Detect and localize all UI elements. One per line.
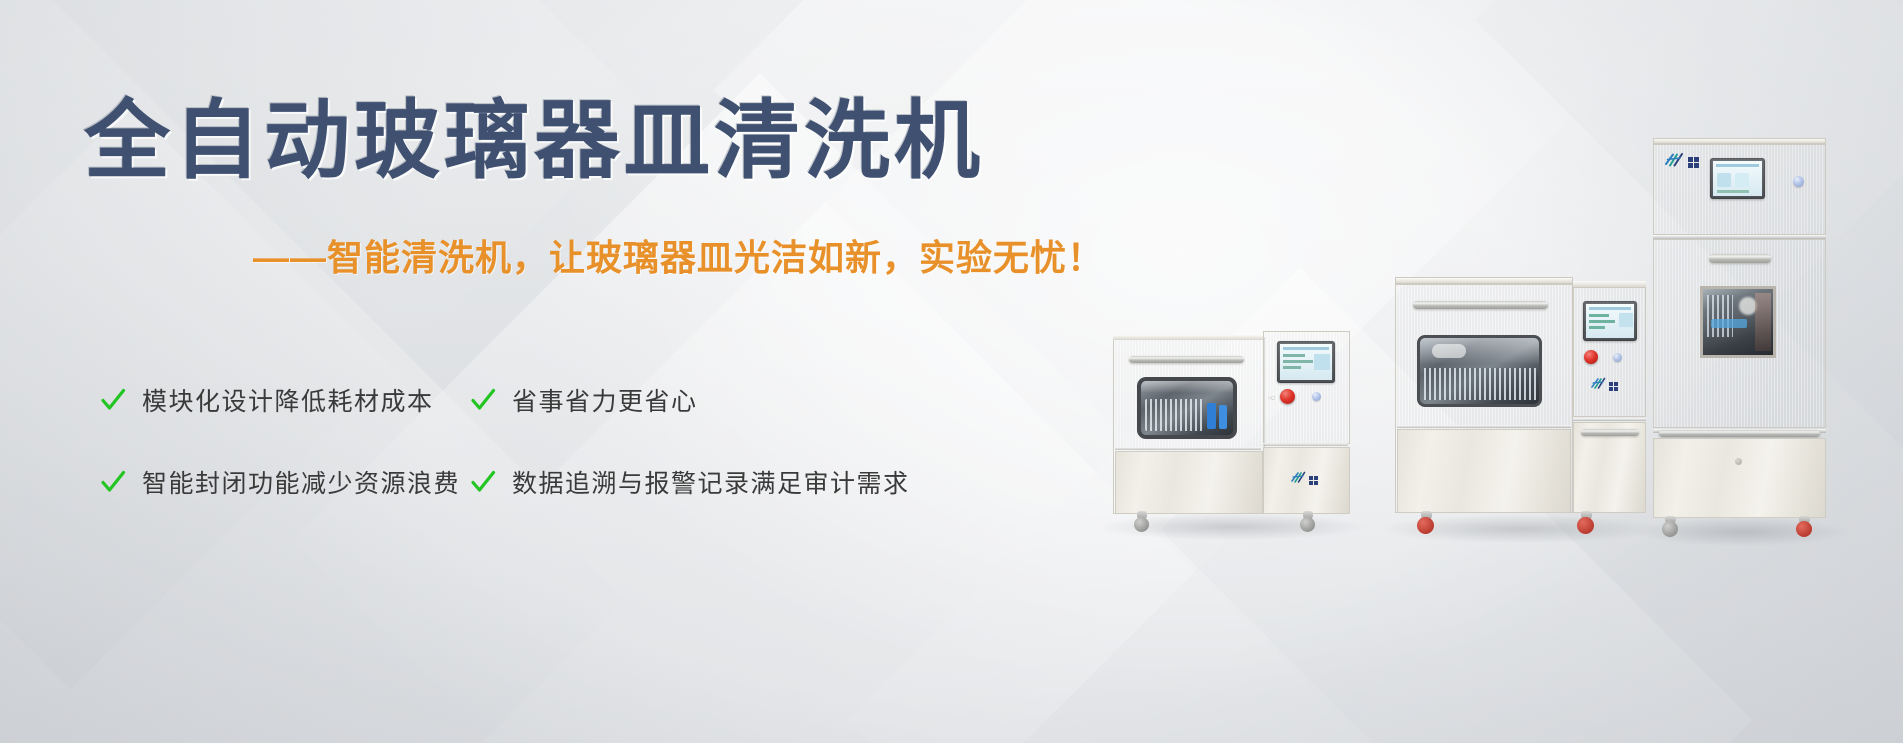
brand-logo-icon <box>1665 152 1699 173</box>
product-image-tall-column-washer <box>1653 138 1828 528</box>
product-photo-group: ⌂◻ <box>0 0 1903 743</box>
hero-banner: 全自动玻璃器皿清洗机 ——智能清洗机，让玻璃器皿光洁如新，实验无忧！ 模块化设计… <box>0 0 1903 743</box>
brand-logo-icon <box>1591 377 1618 395</box>
product-image-undercounter-washer: ⌂◻ <box>1113 331 1351 523</box>
brand-logo-icon <box>1291 471 1318 489</box>
product-image-freestanding-washer <box>1395 277 1645 525</box>
